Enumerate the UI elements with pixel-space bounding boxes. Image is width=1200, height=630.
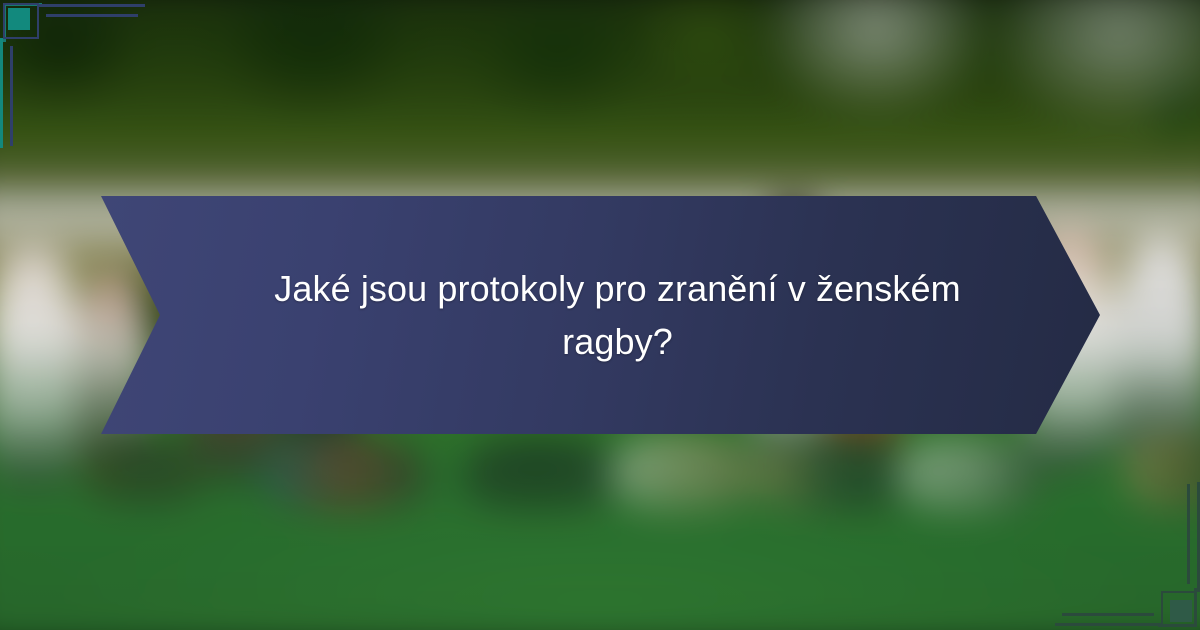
corner-line-vertical-outer: [0, 38, 3, 148]
headline-banner: Jaké jsou protokoly pro zranění v ženské…: [101, 196, 1100, 434]
corner-bracket-bottom-right: [1030, 460, 1200, 630]
corner-line-vertical-inner: [1187, 484, 1190, 584]
corner-line-vertical-inner: [10, 46, 13, 146]
corner-line-horizontal-outer: [38, 4, 145, 7]
corner-square-accent: [8, 8, 30, 30]
corner-line-horizontal-inner: [1062, 613, 1154, 616]
social-card: Jaké jsou protokoly pro zranění v ženské…: [0, 0, 1200, 630]
headline-text: Jaké jsou protokoly pro zranění v ženské…: [238, 262, 998, 369]
corner-square-accent: [1170, 600, 1192, 622]
corner-bracket-top-left: [0, 0, 170, 170]
corner-line-horizontal-inner: [46, 14, 138, 17]
corner-line-horizontal-outer: [1055, 623, 1162, 626]
